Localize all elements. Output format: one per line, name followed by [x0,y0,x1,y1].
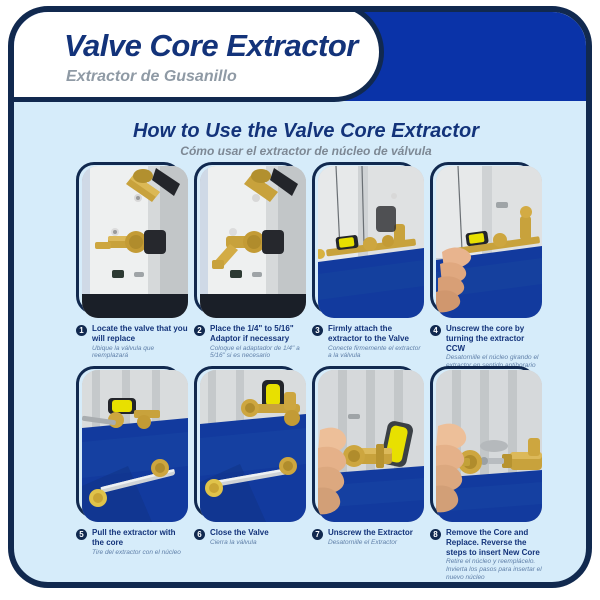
photo-image-remove-core [436,370,542,522]
step-number-badge: 4 [430,325,441,336]
step-4-caption: 4 Unscrew the core by turning the extrac… [430,324,542,370]
step-text-es: Retire el núcleo y reemplácelo. Invierta… [446,558,542,581]
step-1-photo [76,162,188,320]
step-5: 5 Pull the extractor with the core Tire … [76,366,188,556]
step-2-caption: 2 Place the 1/4" to 5/16" Adaptor if nec… [194,324,306,360]
step-3-photo [312,162,424,320]
step-7: 7 Unscrew the Extractor Desatornille el … [312,366,424,547]
step-text-es: Desatornille el Extractor [328,539,424,547]
step-2-photo [194,162,306,320]
step-2: 2 Place the 1/4" to 5/16" Adaptor if nec… [194,162,306,360]
page-subtitle: Extractor de Gusanillo [66,68,237,86]
step-6-caption: 6 Close the Valve Cierra la válvula [194,528,306,547]
step-5-caption: 5 Pull the extractor with the core Tire … [76,528,188,556]
step-1-caption: 1 Locate the valve that you will replace… [76,324,188,360]
step-text-en: Pull the extractor with the core [92,528,188,548]
section-heading-es: Cómo usar el extractor de núcleo de válv… [14,144,592,158]
step-4: 4 Unscrew the core by turning the extrac… [430,162,542,370]
step-8-caption: 8 Remove the Core and Replace. Reverse t… [430,528,542,582]
step-8: 8 Remove the Core and Replace. Reverse t… [430,366,542,582]
poster: Valve Core Extractor Extractor de Gusani… [0,0,600,600]
photo-image-extractor-attached [318,166,424,318]
step-3-caption: 3 Firmly attach the extractor to the Val… [312,324,424,360]
step-text-es: Cierra la válvula [210,539,306,547]
step-7-caption: 7 Unscrew the Extractor Desatornille el … [312,528,424,547]
step-7-photo [312,366,424,524]
step-text-es: Coloque el adaptador de 1/4" a 5/16" si … [210,345,306,361]
step-6-photo [194,366,306,524]
section-heading-en: How to Use the Valve Core Extractor [14,120,592,143]
step-text-en: Place the 1/4" to 5/16" Adaptor if neces… [210,324,306,344]
step-number-badge: 8 [430,529,441,540]
photo-image-valve-unit [82,166,188,318]
step-number-badge: 5 [76,529,87,540]
photo-image-unscrew-extractor [318,370,424,522]
step-text-en: Close the Valve [210,528,306,538]
step-text-en: Remove the Core and Replace. Reverse the… [446,528,542,557]
photo-image-pulling-rod [82,370,188,522]
steps-grid: 1 Locate the valve that you will replace… [14,162,592,570]
step-text-es: Conecte firmemente el extractor a la vál… [328,345,424,361]
step-text-en: Locate the valve that you will replace [92,324,188,344]
steps-row-2: 5 Pull the extractor with the core Tire … [14,366,592,570]
step-4-photo [430,162,542,320]
step-8-photo [430,366,542,524]
step-number-badge: 6 [194,529,205,540]
steps-row-1: 1 Locate the valve that you will replace… [14,162,592,366]
step-number-badge: 1 [76,325,87,336]
photo-image-close-valve [200,370,306,522]
step-number-badge: 3 [312,325,323,336]
step-1: 1 Locate the valve that you will replace… [76,162,188,360]
poster-frame: Valve Core Extractor Extractor de Gusani… [8,6,592,588]
photo-image-adaptor [200,166,306,318]
step-5-photo [76,366,188,524]
step-number-badge: 7 [312,529,323,540]
step-text-en: Unscrew the core by turning the extracto… [446,324,542,353]
step-6: 6 Close the Valve Cierra la válvula [194,366,306,547]
page-title: Valve Core Extractor [64,28,358,64]
step-number-badge: 2 [194,325,205,336]
step-text-es: Ubique la válvula que reemplazará [92,345,188,361]
step-3: 3 Firmly attach the extractor to the Val… [312,162,424,360]
step-text-en: Unscrew the Extractor [328,528,424,538]
step-text-en: Firmly attach the extractor to the Valve [328,324,424,344]
photo-image-hand-turning [436,166,542,318]
step-text-es: Tire del extractor con el núcleo [92,549,188,557]
